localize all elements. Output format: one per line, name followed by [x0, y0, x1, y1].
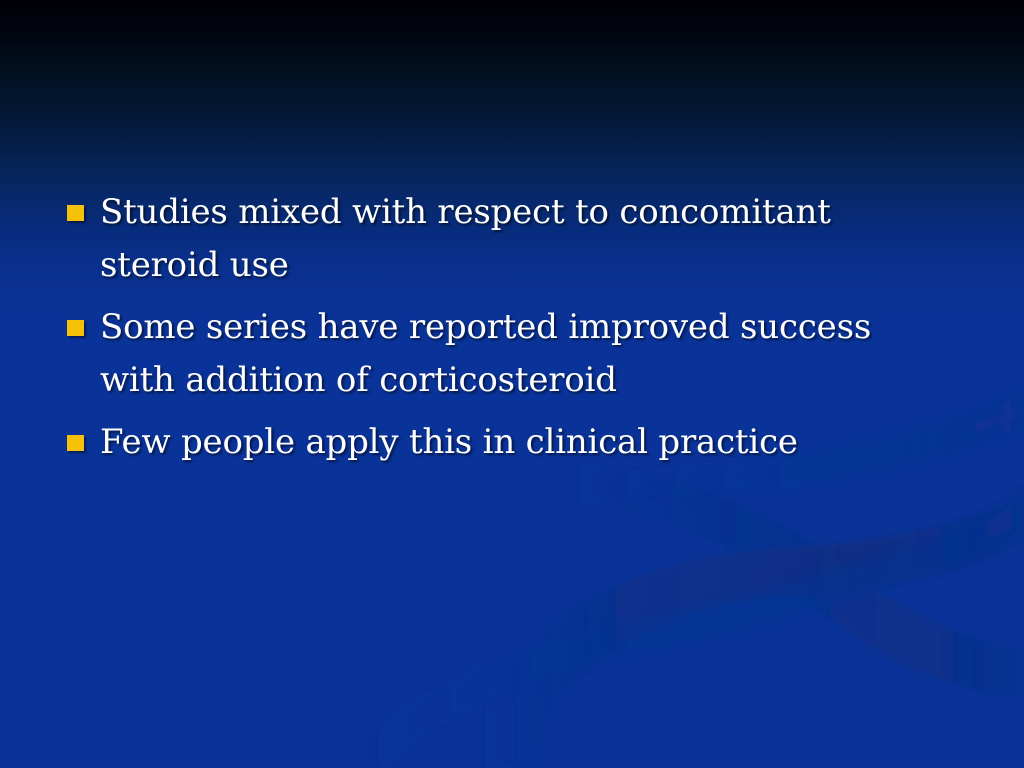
list-item: Some series have reported improved succe… — [60, 301, 940, 407]
bullet-text-3: Few people apply this in clinical practi… — [100, 416, 940, 469]
list-item: Few people apply this in clinical practi… — [60, 416, 940, 469]
slide-content: Studies mixed with respect to concomitan… — [0, 0, 1024, 768]
list-item: Studies mixed with respect to concomitan… — [60, 186, 940, 292]
square-bullet-icon — [67, 205, 84, 221]
bullet-text-2: Some series have reported improved succe… — [100, 301, 940, 407]
bullet-list: Studies mixed with respect to concomitan… — [60, 186, 940, 478]
square-bullet-icon — [67, 435, 84, 451]
square-bullet-icon — [67, 320, 84, 336]
bullet-text-1: Studies mixed with respect to concomitan… — [100, 186, 940, 292]
presentation-slide: Studies mixed with respect to concomitan… — [0, 0, 1024, 768]
